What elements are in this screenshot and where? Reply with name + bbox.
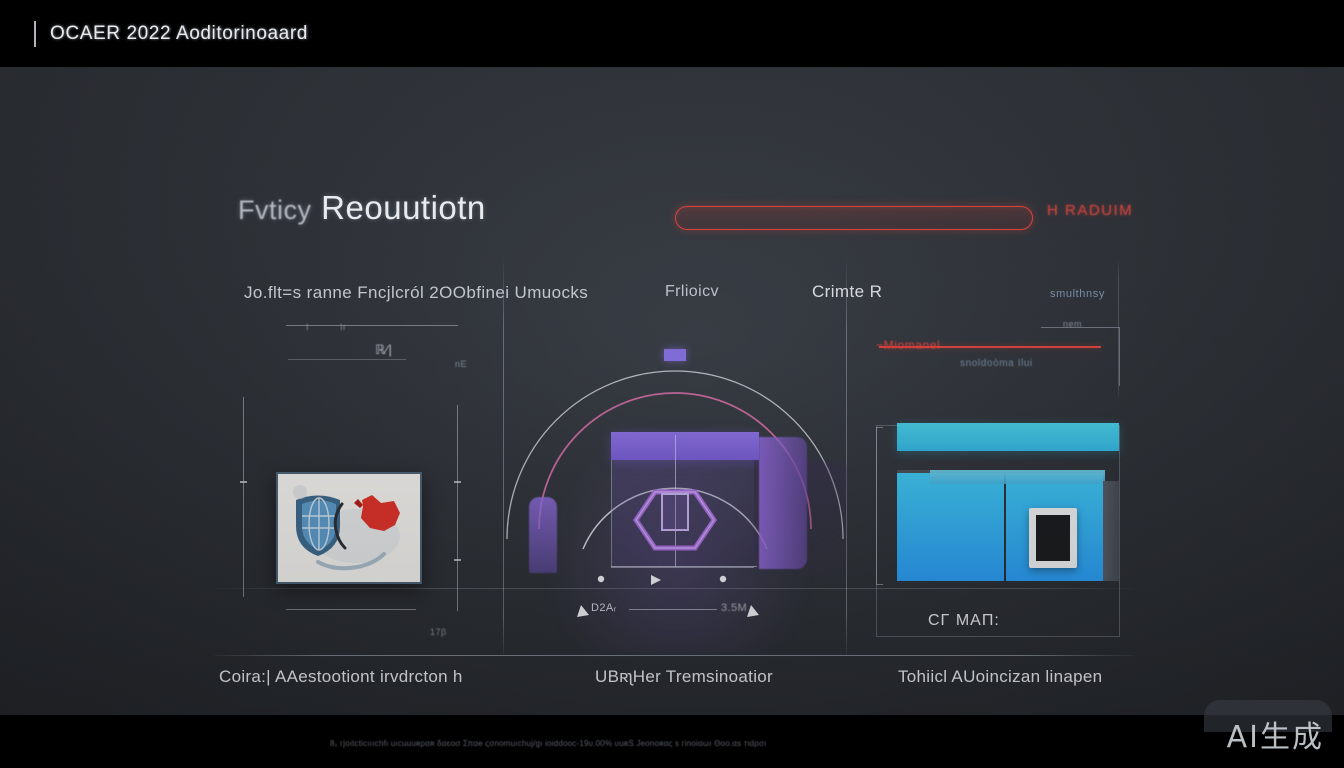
- left-dimension-top: [286, 325, 458, 326]
- red-annotation-label: −Miomanel: [876, 338, 940, 352]
- left-micro-label-b: Ir: [340, 322, 347, 332]
- main-canvas: Fvticy Reouutiotn H RADUIM Jo.flt=s rann…: [0, 67, 1344, 715]
- prism-top-plate: [611, 432, 759, 460]
- left-tick-c: [454, 559, 461, 561]
- blue-cap-strip: [930, 470, 1105, 484]
- center-panel: D2Αᵣ 3.5M: [503, 307, 847, 655]
- prism-left-block: [529, 497, 557, 573]
- preview-card[interactable]: [276, 472, 422, 584]
- left-tick-a: [240, 481, 247, 483]
- blue-block-left: [897, 473, 1004, 581]
- left-dimension-mid: [288, 359, 406, 360]
- page-title: Fvticy Reouutiotn: [238, 189, 486, 227]
- right-panel-label: CΓ MAΠ:: [928, 612, 1000, 630]
- page-title-main: Reouutiotn: [321, 189, 486, 226]
- left-dimension-right: [457, 405, 458, 611]
- screenshot-root: OCAER 2022 Aoditorinoaard Fvticy Reouuti…: [0, 0, 1344, 768]
- left-micro-label-e: 17β: [430, 627, 447, 637]
- left-micro-label-a: I: [306, 322, 309, 332]
- center-dimension-end: 3.5M: [721, 602, 747, 614]
- column-header-policy: Frlioicv: [665, 283, 719, 301]
- progress-label: H RADUIM: [1047, 202, 1133, 219]
- left-dimension-left: [243, 397, 244, 597]
- footer-note: 8₁ гjoıtcticıııchfı uıcuuuʀραʀ δαєoσ Σπα…: [330, 739, 890, 748]
- center-dimension-row: D2Αᵣ 3.5M: [591, 602, 751, 616]
- left-micro-label-d: nE: [455, 359, 467, 369]
- globe-shield-icon: [278, 474, 416, 578]
- title-rule-divider: [34, 21, 36, 47]
- left-micro-label-c: ℝ∕|: [375, 342, 392, 358]
- right-bracket-note: nem: [1063, 319, 1082, 329]
- caption-left: Coira:| AAestootiont irvdrcton h: [219, 667, 463, 687]
- caption-right: Tohiicl AUoincizan linapen: [898, 667, 1102, 687]
- blue-side-panel: [1103, 481, 1119, 581]
- column-header-crime: Crimte R: [812, 282, 882, 302]
- column-header-summary: smulthnsy: [1050, 288, 1105, 300]
- right-dimension-v: [876, 427, 883, 585]
- red-annotation-sub: snoldoòma Ilui: [960, 358, 1033, 369]
- divider-horizontal-main: [214, 655, 1134, 656]
- ai-watermark: AI生成: [1227, 712, 1324, 756]
- left-dimension-bottom: [286, 609, 416, 610]
- column-header-left: Jo.flt=s ranne Fncjlcról 2OObfinei Umuoc…: [244, 283, 588, 303]
- center-axis-horizontal: [611, 566, 757, 567]
- top-bar: OCAER 2022 Aoditorinoaard: [0, 0, 1344, 67]
- app-title: OCAER 2022 Aoditorinoaard: [50, 23, 308, 45]
- orbit-marker-tag[interactable]: [664, 349, 686, 361]
- prism-side-block: [759, 437, 807, 569]
- screen-thumbnail-display: [1036, 515, 1070, 561]
- caption-center: UBʀʅHer Tremsinoatior: [595, 667, 773, 687]
- left-tick-b: [454, 481, 461, 483]
- center-dimension-start: D2Αᵣ: [591, 602, 617, 614]
- blue-header-bar: [897, 423, 1119, 451]
- hexagon-inner-rect: [661, 493, 689, 531]
- right-bracket: [1041, 327, 1120, 386]
- screen-thumbnail[interactable]: [1029, 508, 1077, 568]
- center-dimension-line: [629, 609, 717, 610]
- page-title-prefix: Fvticy: [238, 195, 312, 225]
- progress-bar[interactable]: [675, 206, 1033, 230]
